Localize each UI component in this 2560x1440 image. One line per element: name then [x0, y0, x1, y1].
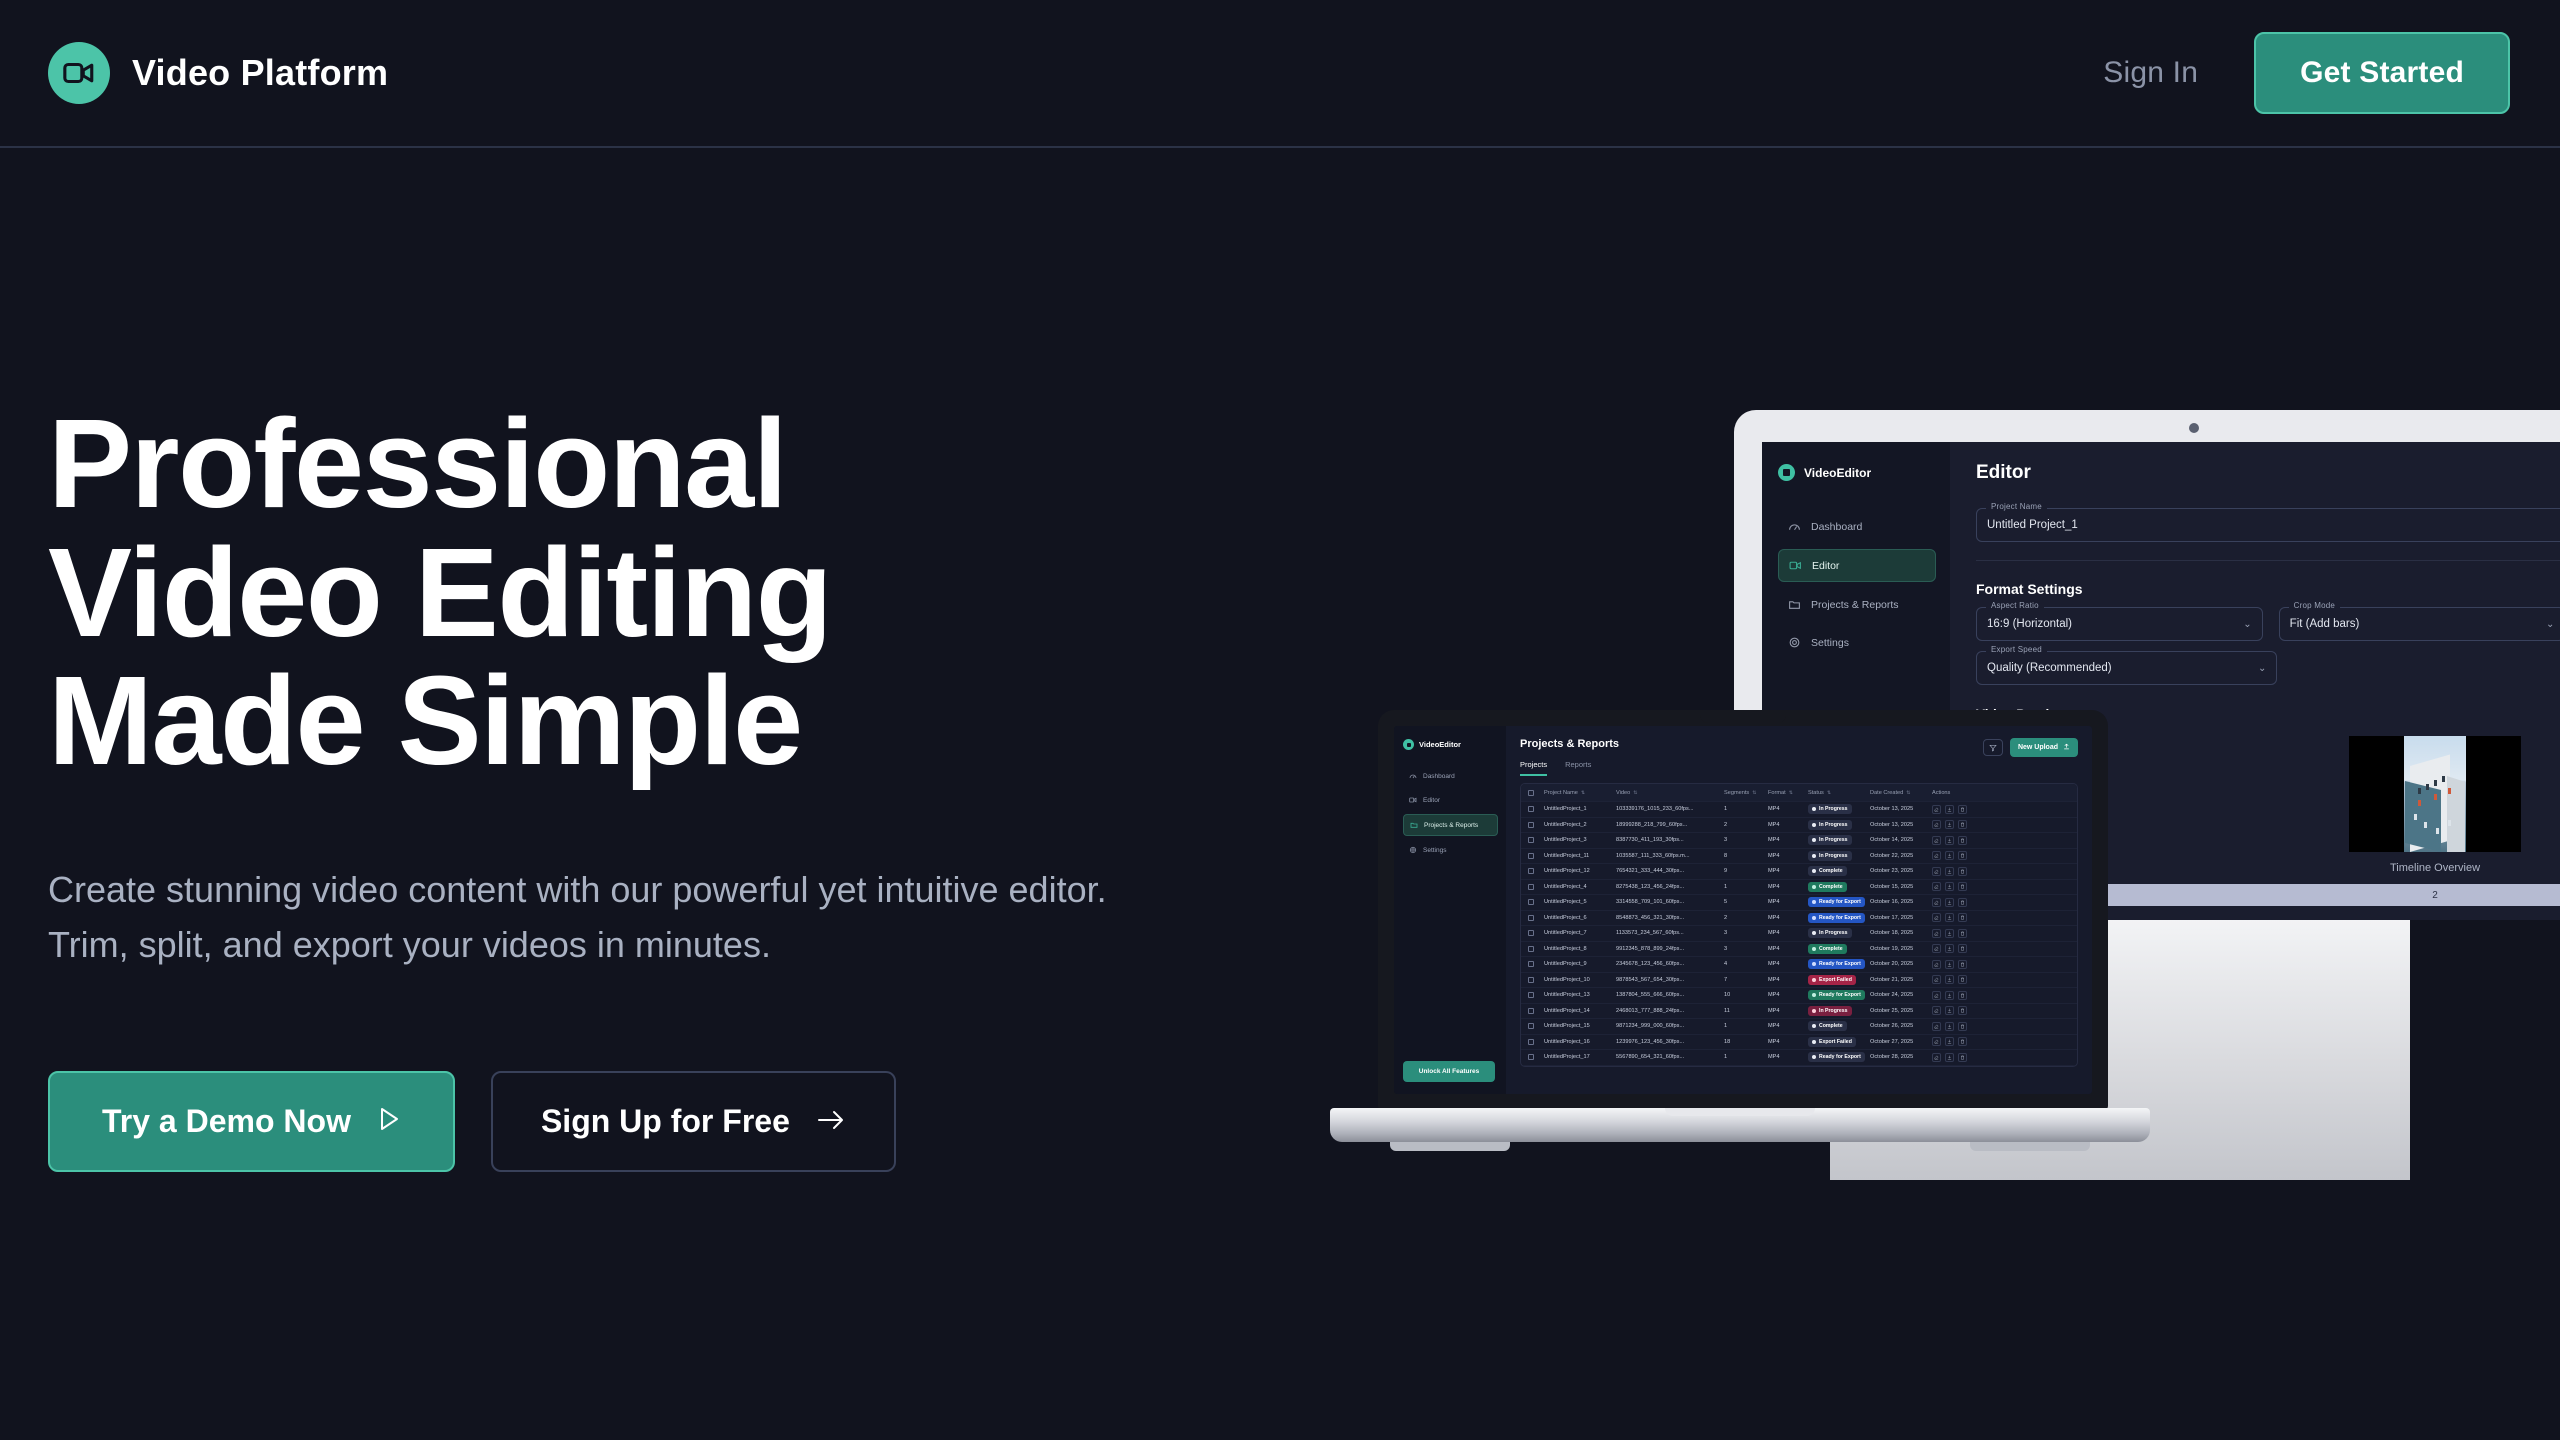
edit-icon[interactable] — [1932, 1053, 1941, 1062]
laptop-brand: VideoEditor — [1403, 739, 1498, 750]
cell-segments: 8 — [1724, 853, 1768, 859]
row-checkbox[interactable] — [1528, 1039, 1544, 1045]
download-icon[interactable] — [1945, 851, 1954, 860]
laptop-foot-right — [1970, 1142, 2090, 1151]
gear-icon — [1788, 636, 1801, 649]
download-icon[interactable] — [1945, 975, 1954, 984]
video-icon — [1409, 796, 1417, 804]
cell-status: In Progress — [1808, 820, 1870, 830]
cell-segments: 10 — [1724, 992, 1768, 998]
cell-date-created: October 20, 2025 — [1870, 961, 1932, 967]
cell-format: MP4 — [1768, 806, 1808, 812]
cell-video: 18999288_218_799_60fps... — [1616, 822, 1724, 828]
header-actions: Sign In Get Started — [2103, 32, 2510, 114]
cell-date-created: October 23, 2025 — [1870, 868, 1932, 874]
sign-up-label: Sign Up for Free — [541, 1103, 790, 1140]
status-badge: Export Failed — [1808, 1037, 1856, 1047]
row-checkbox[interactable] — [1528, 977, 1544, 983]
cell-date-created: October 17, 2025 — [1870, 915, 1932, 921]
sidebar-item-settings[interactable]: Settings — [1778, 627, 1936, 658]
sidebar-item-editor[interactable]: Editor — [1778, 549, 1936, 582]
unlock-all-features-button[interactable]: Unlock All Features — [1403, 1061, 1495, 1082]
cell-actions — [1932, 944, 1978, 953]
cell-format: MP4 — [1768, 1039, 1808, 1045]
videoeditor-logo-icon — [1778, 464, 1795, 481]
cell-format: MP4 — [1768, 992, 1808, 998]
new-upload-button[interactable]: New Upload — [2010, 738, 2078, 757]
cell-project-name: UntitledProject_1 — [1544, 806, 1616, 812]
column-actions: Actions — [1932, 790, 1978, 796]
edit-icon[interactable] — [1932, 913, 1941, 922]
edit-icon[interactable] — [1932, 867, 1941, 876]
chevron-down-icon: ⌄ — [2243, 619, 2251, 630]
aspect-ratio-label: Aspect Ratio — [1986, 601, 2044, 610]
crop-mode-label: Crop Mode — [2289, 601, 2340, 610]
delete-icon[interactable] — [1958, 898, 1967, 907]
cell-status: Complete — [1808, 882, 1870, 892]
table-row[interactable]: UntitledProject_131387804_555_666_60fps.… — [1521, 988, 2077, 1004]
cell-format: MP4 — [1768, 884, 1808, 890]
sort-icon: ⇅ — [1906, 790, 1910, 796]
cell-project-name: UntitledProject_12 — [1544, 868, 1616, 874]
cell-project-name: UntitledProject_11 — [1544, 853, 1616, 859]
projects-main: Projects & Reports Projects Reports New … — [1506, 726, 2092, 1094]
edit-icon[interactable] — [1932, 851, 1941, 860]
cell-format: MP4 — [1768, 868, 1808, 874]
get-started-button[interactable]: Get Started — [2254, 32, 2510, 114]
video-player-preview[interactable] — [2349, 736, 2521, 852]
status-badge: Complete — [1808, 1021, 1847, 1031]
edit-icon[interactable] — [1932, 975, 1941, 984]
laptop-lid: VideoEditor Dashboard Edit — [1378, 710, 2108, 1110]
cell-format: MP4 — [1768, 1054, 1808, 1060]
sidebar-label-dashboard: Dashboard — [1811, 521, 1862, 533]
cell-video: 8548873_456_321_30fps... — [1616, 915, 1724, 921]
hero-title-line-3: Made Simple — [48, 657, 1168, 786]
cell-segments: 2 — [1724, 915, 1768, 921]
cell-video: 1035587_111_333_60fps.m... — [1616, 853, 1724, 859]
projects-sidebar: VideoEditor Dashboard Edit — [1394, 726, 1506, 1094]
table-row[interactable]: UntitledProject_175567890_654_321_60fps.… — [1521, 1050, 2077, 1066]
chevron-down-icon: ⌄ — [2546, 619, 2554, 630]
try-demo-label: Try a Demo Now — [102, 1103, 351, 1140]
delete-icon[interactable] — [1958, 1006, 1967, 1015]
cell-format: MP4 — [1768, 930, 1808, 936]
download-icon[interactable] — [1945, 1037, 1954, 1046]
hero-title-line-2: Video Editing — [48, 529, 1168, 658]
play-triangle-icon — [377, 1103, 401, 1140]
cell-date-created: October 14, 2025 — [1870, 837, 1932, 843]
row-checkbox[interactable] — [1528, 915, 1544, 921]
sidebar-label-projects: Projects & Reports — [1424, 822, 1478, 829]
site-header: Video Platform Sign In Get Started — [0, 0, 2560, 148]
cell-video: 3314558_709_101_60fps... — [1616, 899, 1724, 905]
laptop-base — [1330, 1108, 2150, 1142]
cell-format: MP4 — [1768, 977, 1808, 983]
cell-project-name: UntitledProject_14 — [1544, 1008, 1616, 1014]
cell-video: 5567890_654_321_60fps... — [1616, 1054, 1724, 1060]
table-row[interactable]: UntitledProject_161239976_123_456_30fps.… — [1521, 1035, 2077, 1051]
cell-video: 8387730_411_193_30fps... — [1616, 837, 1724, 843]
status-badge: Complete — [1808, 866, 1847, 876]
cell-video: 1133573_234_567_60fps... — [1616, 930, 1724, 936]
download-icon[interactable] — [1945, 867, 1954, 876]
table-header-row: Project Name⇅ Video⇅ Segments⇅ Format⇅ S… — [1521, 784, 2077, 802]
column-project-name[interactable]: Project Name⇅ — [1544, 790, 1616, 796]
sort-icon: ⇅ — [1827, 790, 1831, 796]
cell-segments: 2 — [1724, 822, 1768, 828]
sidebar-item-projects[interactable]: Projects & Reports — [1403, 814, 1498, 836]
cell-date-created: October 24, 2025 — [1870, 992, 1932, 998]
aspect-ratio-select[interactable]: Aspect Ratio 16:9 (Horizontal) ⌄ — [1976, 607, 2263, 641]
export-speed-select[interactable]: Export Speed Quality (Recommended) ⌄ — [1976, 651, 2277, 685]
preview-building-image — [2404, 736, 2466, 852]
cell-actions — [1932, 898, 1978, 907]
cell-video: 103339176_1015_233_60fps... — [1616, 806, 1724, 812]
sidebar-label-dashboard: Dashboard — [1423, 773, 1455, 780]
format-fields-row-1: Aspect Ratio 16:9 (Horizontal) ⌄ Crop Mo… — [1976, 597, 2560, 641]
editor-brand-name: VideoEditor — [1804, 466, 1871, 480]
cell-segments: 3 — [1724, 930, 1768, 936]
cell-actions — [1932, 1037, 1978, 1046]
delete-icon[interactable] — [1958, 820, 1967, 829]
row-checkbox[interactable] — [1528, 868, 1544, 874]
table-row[interactable]: UntitledProject_1103339176_1015_233_60fp… — [1521, 802, 2077, 818]
status-badge: In Progress — [1808, 851, 1852, 861]
status-badge: Ready for Export — [1808, 913, 1865, 923]
cell-actions — [1932, 929, 1978, 938]
cell-segments: 9 — [1724, 868, 1768, 874]
aspect-ratio-value: 16:9 (Horizontal) — [1987, 618, 2072, 630]
cell-format: MP4 — [1768, 946, 1808, 952]
sidebar-item-projects[interactable]: Projects & Reports — [1778, 589, 1936, 620]
cell-project-name: UntitledProject_2 — [1544, 822, 1616, 828]
row-checkbox[interactable] — [1528, 1023, 1544, 1029]
product-mockup: VideoEditor Dashboard Editor — [1330, 380, 2560, 1220]
edit-icon[interactable] — [1932, 898, 1941, 907]
cell-project-name: UntitledProject_10 — [1544, 977, 1616, 983]
download-icon[interactable] — [1945, 929, 1954, 938]
tab-reports[interactable]: Reports — [1565, 760, 1591, 776]
column-status[interactable]: Status⇅ — [1808, 790, 1870, 796]
cell-format: MP4 — [1768, 822, 1808, 828]
sort-icon: ⇅ — [1633, 790, 1637, 796]
status-badge: Complete — [1808, 944, 1847, 954]
column-segments[interactable]: Segments⇅ — [1724, 790, 1768, 796]
hero-section: Professional Video Editing Made Simple C… — [48, 400, 1168, 1172]
delete-icon[interactable] — [1958, 836, 1967, 845]
table-row[interactable]: UntitledProject_111035587_111_333_60fps.… — [1521, 849, 2077, 865]
cell-format: MP4 — [1768, 1023, 1808, 1029]
sort-icon: ⇅ — [1752, 790, 1756, 796]
project-name-field[interactable]: Project Name Untitled Project_1 — [1976, 508, 2560, 542]
cell-status: Export Failed — [1808, 975, 1870, 985]
edit-icon[interactable] — [1932, 820, 1941, 829]
row-checkbox[interactable] — [1528, 884, 1544, 890]
table-row[interactable]: UntitledProject_68548873_456_321_30fps..… — [1521, 911, 2077, 927]
cell-segments: 18 — [1724, 1039, 1768, 1045]
delete-icon[interactable] — [1958, 851, 1967, 860]
cell-actions — [1932, 1022, 1978, 1031]
gauge-icon — [1409, 772, 1417, 780]
table-row[interactable]: UntitledProject_218999288_218_799_60fps.… — [1521, 818, 2077, 834]
delete-icon[interactable] — [1958, 882, 1967, 891]
cell-actions — [1932, 820, 1978, 829]
row-checkbox[interactable] — [1528, 853, 1544, 859]
download-icon[interactable] — [1945, 991, 1954, 1000]
sign-in-link[interactable]: Sign In — [2103, 56, 2198, 90]
edit-icon[interactable] — [1932, 882, 1941, 891]
gear-icon — [1409, 846, 1417, 854]
status-badge: In Progress — [1808, 835, 1852, 845]
cell-actions — [1932, 1006, 1978, 1015]
brand[interactable]: Video Platform — [48, 42, 388, 104]
crop-mode-value: Fit (Add bars) — [2290, 618, 2360, 630]
cell-actions — [1932, 882, 1978, 891]
status-badge: Ready for Export — [1808, 897, 1865, 907]
filter-funnel-icon[interactable] — [1983, 739, 2003, 756]
delete-icon[interactable] — [1958, 944, 1967, 953]
project-name-value: Untitled Project_1 — [1987, 519, 2078, 531]
delete-icon[interactable] — [1958, 975, 1967, 984]
cell-status: Ready for Export — [1808, 1052, 1870, 1062]
cell-project-name: UntitledProject_9 — [1544, 961, 1616, 967]
edit-icon[interactable] — [1932, 1022, 1941, 1031]
laptop-device: VideoEditor Dashboard Edit — [1330, 710, 2150, 1190]
hero-cta-group: Try a Demo Now Sign Up for Free — [48, 1071, 1168, 1172]
row-checkbox[interactable] — [1528, 806, 1544, 812]
row-checkbox[interactable] — [1528, 992, 1544, 998]
edit-icon[interactable] — [1932, 836, 1941, 845]
cell-segments: 5 — [1724, 899, 1768, 905]
cell-actions — [1932, 836, 1978, 845]
cell-actions — [1932, 805, 1978, 814]
new-upload-label: New Upload — [2018, 744, 2058, 751]
cell-status: Complete — [1808, 866, 1870, 876]
cell-status: Complete — [1808, 1021, 1870, 1031]
download-icon[interactable] — [1945, 1006, 1954, 1015]
cell-segments: 3 — [1724, 837, 1768, 843]
table-row[interactable]: UntitledProject_89912345_878_899_24fps..… — [1521, 942, 2077, 958]
gauge-icon — [1788, 520, 1801, 533]
status-badge: In Progress — [1808, 804, 1852, 814]
cell-project-name: UntitledProject_7 — [1544, 930, 1616, 936]
cell-date-created: October 16, 2025 — [1870, 899, 1932, 905]
row-checkbox[interactable] — [1528, 1008, 1544, 1014]
chevron-down-icon: ⌄ — [2258, 663, 2266, 674]
monitor-camera-icon — [2189, 423, 2199, 433]
row-checkbox[interactable] — [1528, 899, 1544, 905]
cell-status: Complete — [1808, 944, 1870, 954]
sidebar-item-settings[interactable]: Settings — [1403, 840, 1498, 860]
cell-date-created: October 15, 2025 — [1870, 884, 1932, 890]
cell-date-created: October 28, 2025 — [1870, 1054, 1932, 1060]
cell-actions — [1932, 913, 1978, 922]
brand-name: Video Platform — [132, 52, 388, 94]
try-demo-button[interactable]: Try a Demo Now — [48, 1071, 455, 1172]
cell-segments: 7 — [1724, 977, 1768, 983]
videoeditor-logo-icon — [1403, 739, 1414, 750]
cell-video: 1387804_555_666_60fps... — [1616, 992, 1724, 998]
format-fields-row-2: Export Speed Quality (Recommended) ⌄ — [1976, 641, 2560, 685]
cell-status: In Progress — [1808, 851, 1870, 861]
column-date-created[interactable]: Date Created⇅ — [1870, 790, 1932, 796]
edit-icon[interactable] — [1932, 805, 1941, 814]
row-checkbox[interactable] — [1528, 1054, 1544, 1060]
table-row[interactable]: UntitledProject_127654321_333_444_30fps.… — [1521, 864, 2077, 880]
download-icon[interactable] — [1945, 944, 1954, 953]
delete-icon[interactable] — [1958, 913, 1967, 922]
cell-status: Ready for Export — [1808, 913, 1870, 923]
delete-icon[interactable] — [1958, 991, 1967, 1000]
table-row[interactable]: UntitledProject_142468013_777_888_24fps.… — [1521, 1004, 2077, 1020]
sort-icon: ⇅ — [1581, 790, 1585, 796]
download-icon[interactable] — [1945, 820, 1954, 829]
cell-actions — [1932, 867, 1978, 876]
status-badge: In Progress — [1808, 1006, 1852, 1016]
laptop-foot-left — [1390, 1142, 1510, 1151]
column-video[interactable]: Video⇅ — [1616, 790, 1724, 796]
delete-icon[interactable] — [1958, 960, 1967, 969]
cell-date-created: October 19, 2025 — [1870, 946, 1932, 952]
cell-date-created: October 13, 2025 — [1870, 822, 1932, 828]
edit-icon[interactable] — [1932, 944, 1941, 953]
cell-project-name: UntitledProject_15 — [1544, 1023, 1616, 1029]
column-format[interactable]: Format⇅ — [1768, 790, 1808, 796]
download-icon[interactable] — [1945, 913, 1954, 922]
laptop-screen: VideoEditor Dashboard Edit — [1394, 726, 2092, 1094]
cell-status: In Progress — [1808, 928, 1870, 938]
download-icon[interactable] — [1945, 882, 1954, 891]
cell-video: 7654321_333_444_30fps... — [1616, 868, 1724, 874]
sidebar-label-editor: Editor — [1812, 560, 1839, 572]
cell-video: 9912345_878_899_24fps... — [1616, 946, 1724, 952]
cell-video: 2345678_123_456_60fps... — [1616, 961, 1724, 967]
sidebar-label-settings: Settings — [1811, 637, 1849, 649]
download-icon[interactable] — [1945, 1022, 1954, 1031]
sidebar-label-projects: Projects & Reports — [1811, 599, 1899, 611]
table-row[interactable]: UntitledProject_38387730_411_193_30fps..… — [1521, 833, 2077, 849]
edit-icon[interactable] — [1932, 1006, 1941, 1015]
cell-project-name: UntitledProject_8 — [1544, 946, 1616, 952]
table-row[interactable]: UntitledProject_92345678_123_456_60fps..… — [1521, 957, 2077, 973]
download-icon[interactable] — [1945, 960, 1954, 969]
row-checkbox[interactable] — [1528, 946, 1544, 952]
delete-icon[interactable] — [1958, 929, 1967, 938]
cell-date-created: October 26, 2025 — [1870, 1023, 1932, 1029]
arrow-right-icon — [816, 1103, 846, 1140]
download-icon[interactable] — [1945, 805, 1954, 814]
cell-status: In Progress — [1808, 1006, 1870, 1016]
cell-format: MP4 — [1768, 915, 1808, 921]
row-checkbox[interactable] — [1528, 930, 1544, 936]
sign-up-button[interactable]: Sign Up for Free — [491, 1071, 896, 1172]
cell-date-created: October 21, 2025 — [1870, 977, 1932, 983]
folder-icon — [1410, 821, 1418, 829]
cell-actions — [1932, 851, 1978, 860]
table-body: UntitledProject_1103339176_1015_233_60fp… — [1521, 802, 2077, 1066]
landing-page: Video Platform Sign In Get Started Profe… — [0, 0, 2560, 1440]
delete-icon[interactable] — [1958, 1037, 1967, 1046]
status-badge: Complete — [1808, 882, 1847, 892]
projects-table: Project Name⇅ Video⇅ Segments⇅ Format⇅ S… — [1520, 783, 2078, 1067]
crop-mode-select[interactable]: Crop Mode Fit (Add bars) ⌄ — [2279, 607, 2560, 641]
download-icon[interactable] — [1945, 1053, 1954, 1062]
cell-format: MP4 — [1768, 853, 1808, 859]
row-checkbox[interactable] — [1528, 961, 1544, 967]
cell-format: MP4 — [1768, 1008, 1808, 1014]
edit-icon[interactable] — [1932, 991, 1941, 1000]
row-checkbox[interactable] — [1528, 822, 1544, 828]
cell-actions — [1932, 975, 1978, 984]
laptop-brand-name: VideoEditor — [1419, 740, 1461, 749]
row-checkbox[interactable] — [1528, 837, 1544, 843]
cell-status: In Progress — [1808, 835, 1870, 845]
cell-actions — [1932, 960, 1978, 969]
edit-icon[interactable] — [1932, 929, 1941, 938]
cell-project-name: UntitledProject_3 — [1544, 837, 1616, 843]
sidebar-label-editor: Editor — [1423, 797, 1440, 804]
laptop-base-notch — [1665, 1108, 1815, 1116]
hero-title-line-1: Professional — [48, 400, 1168, 529]
edit-icon[interactable] — [1932, 1037, 1941, 1046]
cell-video: 9871234_999_000_60fps... — [1616, 1023, 1724, 1029]
sort-icon: ⇅ — [1789, 790, 1793, 796]
download-icon[interactable] — [1945, 836, 1954, 845]
cell-date-created: October 18, 2025 — [1870, 930, 1932, 936]
table-row[interactable]: UntitledProject_109878543_567_654_30fps.… — [1521, 973, 2077, 989]
delete-icon[interactable] — [1958, 1022, 1967, 1031]
sidebar-item-dashboard[interactable]: Dashboard — [1778, 511, 1936, 542]
page-title: Professional Video Editing Made Simple — [48, 400, 1168, 786]
table-row[interactable]: UntitledProject_159871234_999_000_60fps.… — [1521, 1019, 2077, 1035]
hero-subtitle: Create stunning video content with our p… — [48, 862, 1138, 974]
cell-video: 1239976_123_456_30fps... — [1616, 1039, 1724, 1045]
cell-project-name: UntitledProject_4 — [1544, 884, 1616, 890]
video-icon — [1789, 559, 1802, 572]
cell-segments: 1 — [1724, 1023, 1768, 1029]
folder-icon — [1788, 598, 1801, 611]
delete-icon[interactable] — [1958, 1053, 1967, 1062]
sidebar-item-editor[interactable]: Editor — [1403, 790, 1498, 810]
status-badge: Export Failed — [1808, 975, 1856, 985]
export-speed-label: Export Speed — [1986, 645, 2047, 654]
cell-project-name: UntitledProject_5 — [1544, 899, 1616, 905]
cell-video: 2468013_777_888_24fps... — [1616, 1008, 1724, 1014]
cell-date-created: October 13, 2025 — [1870, 806, 1932, 812]
table-row[interactable]: UntitledProject_71133573_234_567_60fps..… — [1521, 926, 2077, 942]
download-icon[interactable] — [1945, 898, 1954, 907]
status-badge: Ready for Export — [1808, 959, 1865, 969]
tab-projects[interactable]: Projects — [1520, 760, 1547, 776]
delete-icon[interactable] — [1958, 867, 1967, 876]
sidebar-item-dashboard[interactable]: Dashboard — [1403, 766, 1498, 786]
laptop-notch — [1700, 710, 1786, 723]
edit-icon[interactable] — [1932, 960, 1941, 969]
export-speed-value: Quality (Recommended) — [1987, 662, 2112, 674]
select-all-checkbox[interactable] — [1528, 790, 1544, 796]
delete-icon[interactable] — [1958, 805, 1967, 814]
table-row[interactable]: UntitledProject_53314558_709_101_60fps..… — [1521, 895, 2077, 911]
cell-video: 8275438_123_456_24fps... — [1616, 884, 1724, 890]
projects-tabs: Projects Reports — [1520, 760, 2092, 776]
editor-brand: VideoEditor — [1778, 464, 1936, 481]
table-row[interactable]: UntitledProject_48275438_123_456_24fps..… — [1521, 880, 2077, 896]
cell-status: Ready for Export — [1808, 990, 1870, 1000]
cell-segments: 3 — [1724, 946, 1768, 952]
cell-segments: 1 — [1724, 1054, 1768, 1060]
timeline-value: 2 — [2432, 890, 2438, 901]
